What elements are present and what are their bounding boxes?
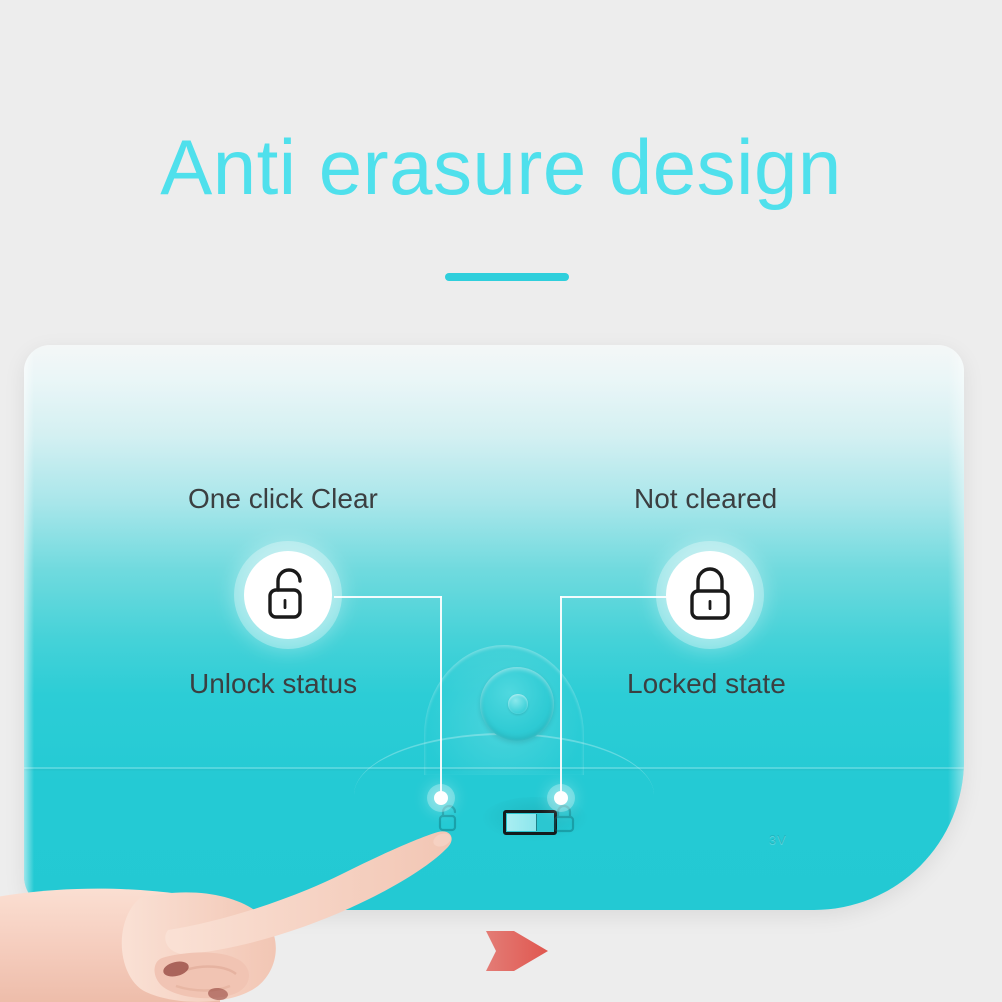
erase-button-center [508, 694, 528, 714]
lock-toggle-knob [507, 814, 536, 831]
product-infographic: Anti erasure design [0, 0, 1002, 1002]
arrow-right-icon [452, 925, 572, 977]
title-divider [445, 273, 569, 281]
left-callout-heading: One click Clear [188, 483, 378, 515]
lock-icon [681, 564, 739, 626]
right-connector-horizontal [560, 596, 670, 598]
right-connector-vertical [560, 596, 562, 798]
device-right-edge [948, 345, 964, 910]
locked-state-badge[interactable] [666, 551, 754, 639]
pointing-hand [0, 790, 460, 1002]
brand-emboss-text: 3V [769, 832, 787, 847]
right-connector-endpoint [554, 791, 568, 805]
unlock-status-badge[interactable] [244, 551, 332, 639]
left-callout-sub: Unlock status [189, 668, 357, 700]
left-connector-horizontal [334, 596, 442, 598]
lock-toggle-switch[interactable] [503, 810, 557, 835]
device-hump-contour [354, 733, 654, 795]
page-title: Anti erasure design [0, 128, 1002, 206]
lock-icon [552, 803, 578, 835]
erase-button[interactable] [480, 667, 554, 741]
left-connector-vertical [440, 596, 442, 798]
right-callout-heading: Not cleared [634, 483, 777, 515]
right-callout-sub: Locked state [627, 668, 786, 700]
unlock-icon [259, 564, 317, 626]
